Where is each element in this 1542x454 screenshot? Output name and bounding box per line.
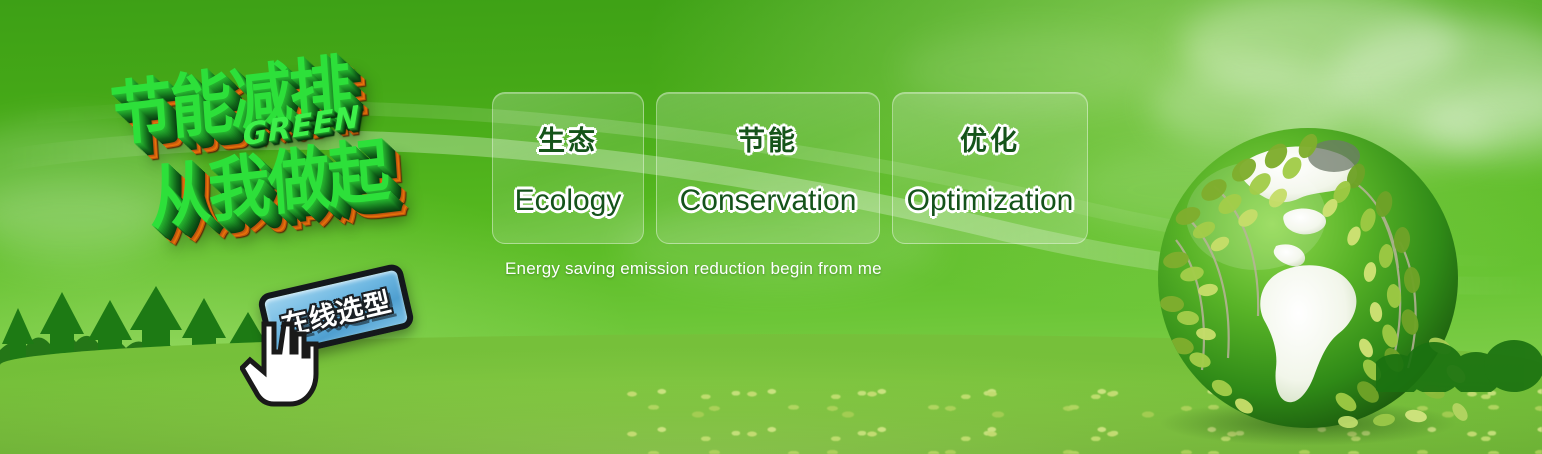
feature-card-optimization[interactable]: 优化 Optimization <box>892 92 1088 244</box>
card-title-cn: 生态 <box>538 119 598 158</box>
card-title-en: Conservation <box>680 184 857 218</box>
hand-pointer-icon <box>240 318 322 410</box>
card-title-cn: 节能 <box>738 119 798 158</box>
tree-line-icon <box>1376 320 1542 392</box>
feature-card-list: 生态 Ecology 节能 Conservation 优化 Optimizati… <box>492 92 1088 244</box>
eco-banner: 节能减排 GREEN 从我做起 在线选型 生态 Ecology 节能 Conse… <box>0 0 1542 454</box>
card-title-cn: 优化 <box>960 119 1020 158</box>
headline-line-2: 从我做起 <box>145 125 391 232</box>
feature-card-ecology[interactable]: 生态 Ecology <box>492 92 644 244</box>
feature-card-conservation[interactable]: 节能 Conservation <box>656 92 880 244</box>
leafy-earth-globe-icon <box>1148 120 1468 440</box>
card-title-en: Ecology <box>515 184 622 218</box>
card-title-en: Optimization <box>907 184 1074 218</box>
headline-3d: 节能减排 GREEN 从我做起 <box>88 27 483 283</box>
tagline-text: Energy saving emission reduction begin f… <box>505 259 882 279</box>
